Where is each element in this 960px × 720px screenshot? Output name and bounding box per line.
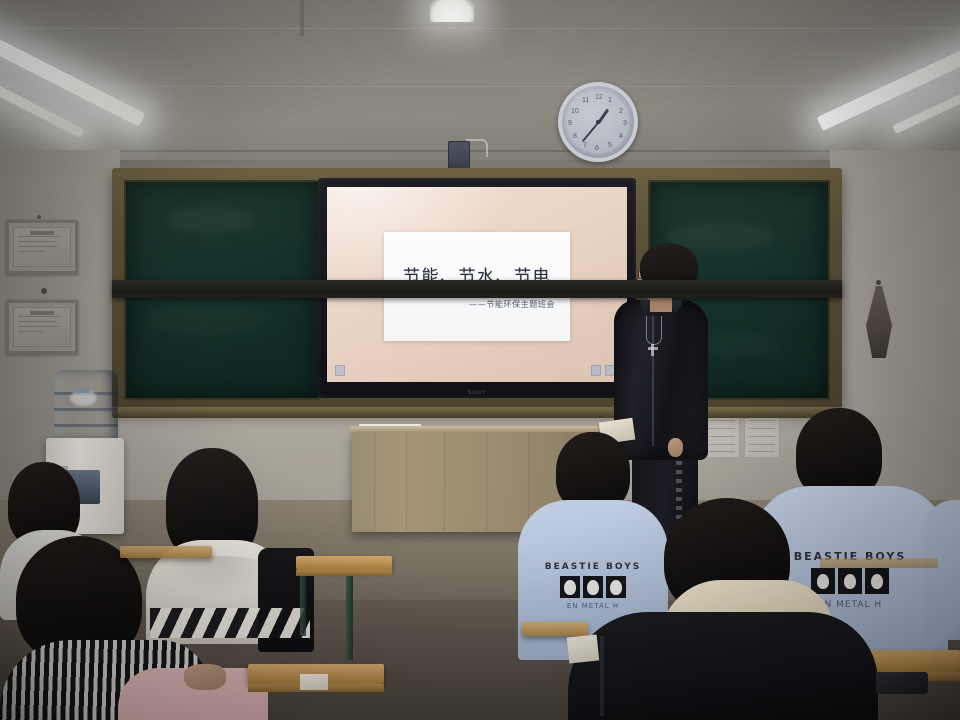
puffer-seam bbox=[600, 636, 604, 716]
clock-numeral: 5 bbox=[608, 142, 612, 149]
certificate-upper bbox=[6, 220, 78, 274]
blue-uniform bbox=[924, 500, 960, 640]
clock-numeral: 3 bbox=[623, 120, 627, 127]
clock-numeral: 7 bbox=[583, 142, 587, 149]
uniform-brand-text: BEASTIE BOYS bbox=[518, 562, 668, 572]
notice-right bbox=[744, 412, 780, 458]
screen-brand-label: SONY bbox=[468, 390, 486, 396]
app-icon-left[interactable] bbox=[335, 365, 345, 376]
water-bottle bbox=[54, 370, 118, 442]
chair-back-stripe bbox=[150, 608, 310, 638]
uniform-portrait-panel bbox=[865, 568, 889, 594]
desk-mid-left bbox=[296, 556, 392, 570]
certificate-hook-upper bbox=[37, 215, 41, 219]
clock-numeral: 2 bbox=[619, 108, 623, 115]
desk-far-right bbox=[820, 558, 938, 568]
clock-numeral: 6 bbox=[595, 145, 599, 152]
clock-face: 12 1 2 3 4 5 6 7 8 9 10 11 bbox=[567, 91, 629, 153]
clock-numeral: 11 bbox=[582, 97, 589, 104]
uniform-sub-text: EN METAL H bbox=[518, 602, 668, 610]
certificate-hook-lower bbox=[41, 288, 47, 294]
clock-numeral: 10 bbox=[571, 108, 579, 115]
uniform-portrait-panel bbox=[606, 576, 626, 598]
presenter-pendant-icon bbox=[651, 344, 654, 356]
student-hand bbox=[184, 664, 226, 690]
uniform-portrait-panel bbox=[583, 576, 603, 598]
clock-center-pin bbox=[596, 120, 600, 124]
clock-numeral: 4 bbox=[619, 133, 623, 140]
clock-numeral: 9 bbox=[568, 120, 572, 127]
clock-minute-hand bbox=[582, 122, 599, 142]
desk-leg bbox=[346, 576, 353, 660]
speaker-bracket bbox=[466, 139, 488, 157]
desk-edge bbox=[296, 570, 392, 576]
black-puffer-jacket bbox=[568, 612, 878, 720]
uniform-portrait-panel bbox=[560, 576, 580, 598]
classroom-photo: 12 1 2 3 4 5 6 7 8 9 10 11 bbox=[0, 0, 960, 720]
paper-on-desk-2 bbox=[300, 674, 328, 690]
slide-subtitle: ——节能环保主题班会 bbox=[469, 299, 555, 310]
desk-leg bbox=[300, 576, 306, 636]
desk-back-left bbox=[120, 546, 212, 558]
paper-on-desk bbox=[567, 635, 600, 664]
wall-clock: 12 1 2 3 4 5 6 7 8 9 10 11 bbox=[558, 82, 638, 162]
clock-numeral: 8 bbox=[573, 133, 577, 140]
uniform-portrait-panel bbox=[811, 568, 835, 594]
phone-on-desk[interactable] bbox=[876, 672, 928, 694]
clock-numeral: 12 bbox=[595, 94, 603, 101]
certificate-lower bbox=[6, 300, 78, 354]
app-icon-right-a[interactable] bbox=[591, 365, 601, 376]
presenter-hand bbox=[668, 438, 683, 457]
presenter-necklace bbox=[646, 316, 662, 345]
uniform-portrait-panel bbox=[838, 568, 862, 594]
bottle-neck bbox=[74, 388, 90, 393]
hanger-nail bbox=[876, 280, 881, 285]
notice-left bbox=[704, 412, 740, 458]
ceiling-light-center bbox=[430, 0, 474, 22]
clock-numeral: 1 bbox=[608, 97, 612, 104]
desk-center bbox=[522, 622, 588, 636]
chalk-rail bbox=[112, 280, 842, 298]
